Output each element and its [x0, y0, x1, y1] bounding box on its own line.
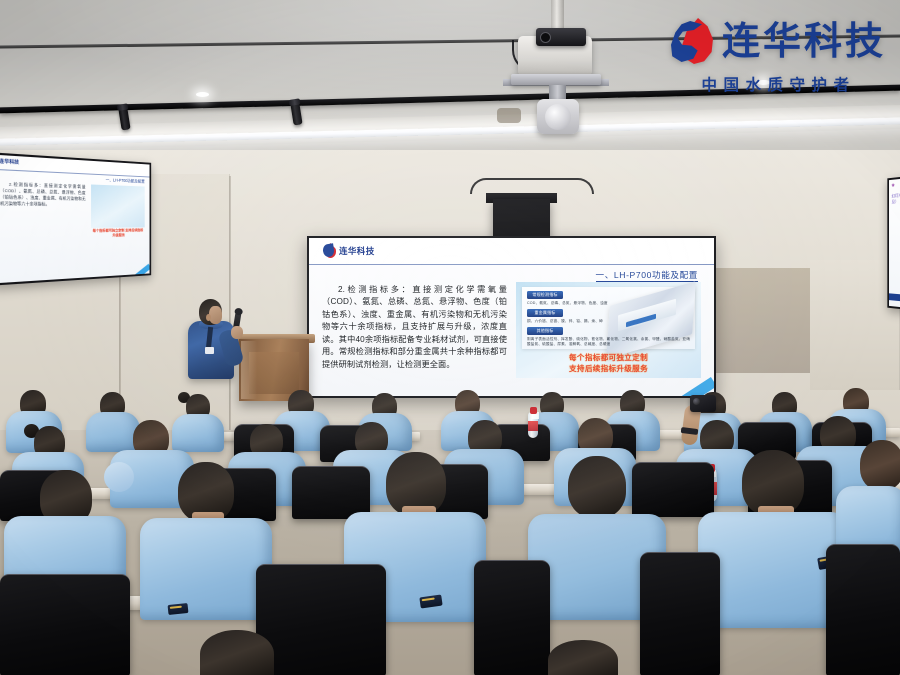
- dome-lens-icon: [545, 104, 571, 130]
- rig-mount-plate: [511, 74, 601, 85]
- mini-brand-name: 连华科技: [0, 158, 19, 166]
- figure-group-chip: 常规检测指标: [527, 291, 563, 299]
- presenter-badge: [205, 347, 214, 354]
- figure-group-items: COD、氨氮、总磷、总氮、悬浮物、色度、浊度: [527, 301, 608, 306]
- side-display-right[interactable]: ❀ 幻灯片文字（部分可见）: [887, 173, 900, 312]
- projection-screen[interactable]: 连华科技 一、LH-P700功能及配置 2.检测指标多：直接测定化学需氧量（CO…: [307, 236, 716, 398]
- brand-tagline: 中国水质守护者: [701, 73, 855, 95]
- ceiling-vent-patch: [497, 108, 521, 123]
- chair-back: [632, 462, 714, 517]
- mini-right-logo: ❀: [892, 182, 895, 188]
- wall-panel-dark: [714, 268, 810, 373]
- mini-body-text: 2.检测指标多：直接测定化学需氧量（COD）、氨氮、总磷、总氮、悬浮物、色度（铂…: [0, 181, 85, 207]
- water-drop-swirl-logo-icon: [323, 243, 336, 258]
- figure-group-chip: 其他指标: [527, 327, 563, 335]
- camera-lens-icon: [540, 32, 551, 43]
- mini-right-text: 幻灯片文字（部分可见）: [892, 190, 900, 205]
- slide-brand-logo: 连华科技: [323, 243, 375, 258]
- presenter-hand: [231, 326, 243, 339]
- uniform-epaulet: [168, 603, 189, 615]
- mini-highlight-text: 每个指标都可独立定制 支持后续指标升级服务: [91, 228, 145, 238]
- figure-group-items: 阴离子表面活性剂、挥发酚、硫化物、氰化物、氟化物、二氧化氯、余氯、甲醛、硝酸盐氮…: [527, 337, 693, 348]
- chair-back: [826, 544, 900, 675]
- water-bottle: [528, 412, 538, 438]
- chair-back: [0, 574, 130, 675]
- chair-back: [256, 564, 386, 675]
- presenter-ear: [206, 314, 211, 321]
- brand-lockup: 连华科技: [671, 18, 886, 66]
- slide-highlight-text: 每个指标都可独立定制 支持后续指标升级服务: [516, 352, 701, 374]
- chair-back: [292, 466, 370, 519]
- figure-group-chip: 重金属指标: [527, 309, 563, 317]
- chair-back: [474, 560, 550, 675]
- slide-header-rule: [309, 264, 714, 265]
- wall-seam: [229, 176, 231, 440]
- mini-right-footer: [889, 293, 900, 304]
- seminar-photo-scene: 连华科技 一、LH-P700功能及配置 2.检测指标多：直接测定化学需氧量（CO…: [0, 0, 900, 675]
- slide-body-text: 2.检测指标多：直接测定化学需氧量（COD）、氨氮、总磷、总氮、悬浮物、色度（铂…: [322, 284, 507, 371]
- slide-brand-name: 连华科技: [339, 245, 375, 257]
- presenter-face: [209, 306, 222, 324]
- smartphone-icon[interactable]: [690, 395, 716, 412]
- chair-back: [640, 552, 720, 675]
- mini-figure-panel: [91, 184, 145, 227]
- side-display-left[interactable]: 连华科技 一、LH-P700功能及配置 2.检测指标多：直接测定化学需氧量（CO…: [0, 152, 151, 285]
- slide-figure-panel: 常规检测指标 COD、氨氮、总磷、总氮、悬浮物、色度、浊度 重金属指标 铜、六价…: [516, 282, 701, 378]
- slide-section-header: 一、LH-P700功能及配置: [596, 269, 698, 281]
- brand-watermark: 连华科技 中国水质守护者: [671, 18, 886, 95]
- figure-group-items: 铜、六价铬、总铬、镍、锌、铅、镉、汞、砷: [527, 319, 603, 324]
- speaker-suspension-cable: [470, 178, 594, 194]
- mini-section-header: 一、LH-P700功能及配置: [106, 177, 145, 184]
- water-drop-swirl-logo-icon: [671, 18, 713, 66]
- mirrored-slide: 连华科技 一、LH-P700功能及配置 2.检测指标多：直接测定化学需氧量（CO…: [0, 155, 150, 284]
- ceiling-light-dot: [196, 92, 209, 97]
- lectern-highlight: [241, 341, 257, 399]
- presentation-slide: 连华科技 一、LH-P700功能及配置 2.检测指标多：直接测定化学需氧量（CO…: [309, 238, 714, 396]
- brand-name: 连华科技: [722, 23, 886, 61]
- mirrored-slide-right: ❀ 幻灯片文字（部分可见）: [889, 176, 900, 311]
- figure-inner-card: 常规检测指标 COD、氨氮、总磷、总氮、悬浮物、色度、浊度 重金属指标 铜、六价…: [522, 287, 695, 349]
